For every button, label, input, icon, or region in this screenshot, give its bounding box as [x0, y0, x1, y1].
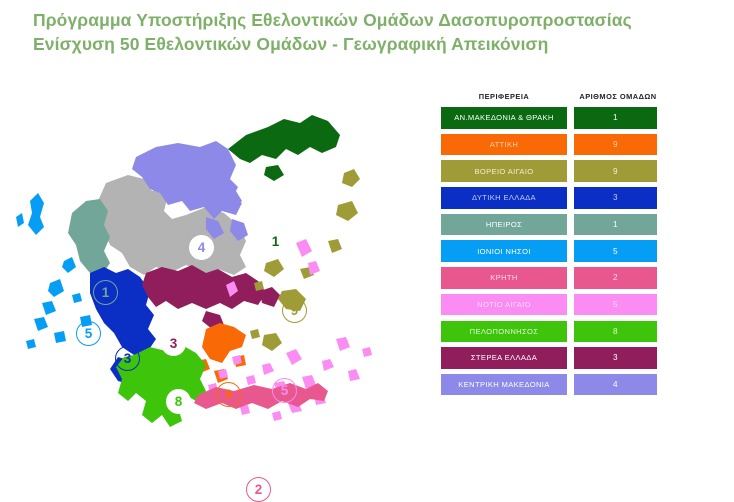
- table-row: ΔΥΤΙΚΗ ΕΛΛΑΔΑ3: [440, 186, 665, 210]
- regions-table: ΠΕΡΙΦΕΡΕΙΑ ΑΡΙΘΜΟΣ ΟΜΑΔΩΝ ΑΝ.ΜΑΚΕΔΟΝΙΑ &…: [440, 86, 665, 400]
- badge-ipeiros: 1: [93, 280, 118, 305]
- table-row: ΠΕΛΟΠΟΝΝΗΣΟΣ8: [440, 320, 665, 344]
- map-region-sterea-ellada: [142, 265, 280, 329]
- table-cell-count: 1: [573, 106, 658, 130]
- badge-kriti: 2: [246, 477, 271, 502]
- table-cell-count: 9: [573, 159, 658, 183]
- table-row: ΚΡΗΤΗ2: [440, 266, 665, 290]
- table-cell-count: 3: [573, 186, 658, 210]
- badge-peloponnisos: 8: [166, 389, 191, 414]
- badge-value: 8: [175, 395, 183, 409]
- table-body: ΑΝ.ΜΑΚΕΔΟΝΙΑ & ΘΡΑΚΗ1ΑΤΤΙΚΗ9ΒΟΡΕΙΟ ΑΙΓΑΙ…: [440, 106, 665, 396]
- badge-ionioi-nisoi: 5: [76, 321, 101, 346]
- table-header-count: ΑΡΙΘΜΟΣ ΟΜΑΔΩΝ: [571, 92, 665, 101]
- table-cell-count: 9: [573, 133, 658, 157]
- map-svg: [10, 95, 420, 430]
- table-cell-region: ΙΟΝΙΟΙ ΝΗΣΟΙ: [440, 239, 568, 263]
- table-cell-count: 3: [573, 346, 658, 370]
- table-cell-count: 5: [573, 293, 658, 317]
- table-row: ΝΟΤΙΟ ΑΙΓΑΙΟ5: [440, 293, 665, 317]
- greece-region-map: 1 4 9 1 5 3 3 8 9 5 2: [10, 95, 420, 430]
- badge-value: 9: [291, 304, 299, 318]
- page-title-line-2: Ενίσχυση 50 Εθελοντικών Ομάδων - Γεωγραφ…: [33, 32, 693, 56]
- table-cell-count: 4: [573, 373, 658, 397]
- table-cell-region: ΚΡΗΤΗ: [440, 266, 568, 290]
- map-region-voreio-aigaio: [250, 169, 360, 351]
- table-cell-count: 5: [573, 239, 658, 263]
- table-row: ΙΟΝΙΟΙ ΝΗΣΟΙ5: [440, 239, 665, 263]
- table-cell-region: ΠΕΛΟΠΟΝΝΗΣΟΣ: [440, 320, 568, 344]
- badge-value: 3: [124, 352, 132, 366]
- table-cell-count: 2: [573, 266, 658, 290]
- badge-anatoliki-makedonia-thraki: 1: [263, 229, 288, 254]
- badge-value: 5: [281, 384, 289, 398]
- table-row: ΚΕΝΤΡΙΚΗ ΜΑΚΕΔΟΝΙΑ4: [440, 373, 665, 397]
- page-title: Πρόγραμμα Υποστήριξης Εθελοντικών Ομάδων…: [33, 8, 693, 56]
- badge-value: 3: [170, 337, 178, 351]
- badge-dytiki-ellada: 3: [115, 346, 140, 371]
- table-cell-region: ΝΟΤΙΟ ΑΙΓΑΙΟ: [440, 293, 568, 317]
- table-header-row: ΠΕΡΙΦΕΡΕΙΑ ΑΡΙΘΜΟΣ ΟΜΑΔΩΝ: [440, 86, 665, 106]
- table-cell-region: ΑΝ.ΜΑΚΕΔΟΝΙΑ & ΘΡΑΚΗ: [440, 106, 568, 130]
- page-title-line-1: Πρόγραμμα Υποστήριξης Εθελοντικών Ομάδων…: [33, 8, 693, 32]
- badge-attiki: 9: [216, 382, 241, 407]
- table-header-region: ΠΕΡΙΦΕΡΕΙΑ: [440, 92, 568, 101]
- table-row: ΣΤΕΡΕΑ ΕΛΛΑΔΑ3: [440, 346, 665, 370]
- table-cell-count: 1: [573, 213, 658, 237]
- title-divider: [33, 68, 423, 69]
- table-row: ΑΤΤΙΚΗ9: [440, 133, 665, 157]
- table-row: ΑΝ.ΜΑΚΕΔΟΝΙΑ & ΘΡΑΚΗ1: [440, 106, 665, 130]
- badge-value: 9: [225, 388, 233, 402]
- table-cell-region: ΑΤΤΙΚΗ: [440, 133, 568, 157]
- table-cell-count: 8: [573, 320, 658, 344]
- map-region-anatoliki-makedonia-thraki: [228, 115, 340, 181]
- badge-value: 2: [255, 483, 263, 497]
- badge-sterea-ellada: 3: [161, 331, 186, 356]
- badge-value: 4: [198, 241, 206, 255]
- table-cell-region: ΗΠΕΙΡΟΣ: [440, 213, 568, 237]
- table-cell-region: ΚΕΝΤΡΙΚΗ ΜΑΚΕΔΟΝΙΑ: [440, 373, 568, 397]
- table-cell-region: ΒΟΡΕΙΟ ΑΙΓΑΙΟ: [440, 159, 568, 183]
- badge-voreio-aigaio: 9: [282, 298, 307, 323]
- table-row: ΗΠΕΙΡΟΣ1: [440, 213, 665, 237]
- table-row: ΒΟΡΕΙΟ ΑΙΓΑΙΟ9: [440, 159, 665, 183]
- badge-kentriki-makedonia: 4: [189, 235, 214, 260]
- badge-notio-aigaio: 5: [272, 378, 297, 403]
- badge-value: 1: [272, 235, 280, 249]
- badge-value: 1: [102, 286, 110, 300]
- table-cell-region: ΣΤΕΡΕΑ ΕΛΛΑΔΑ: [440, 346, 568, 370]
- badge-value: 5: [85, 327, 93, 341]
- table-cell-region: ΔΥΤΙΚΗ ΕΛΛΑΔΑ: [440, 186, 568, 210]
